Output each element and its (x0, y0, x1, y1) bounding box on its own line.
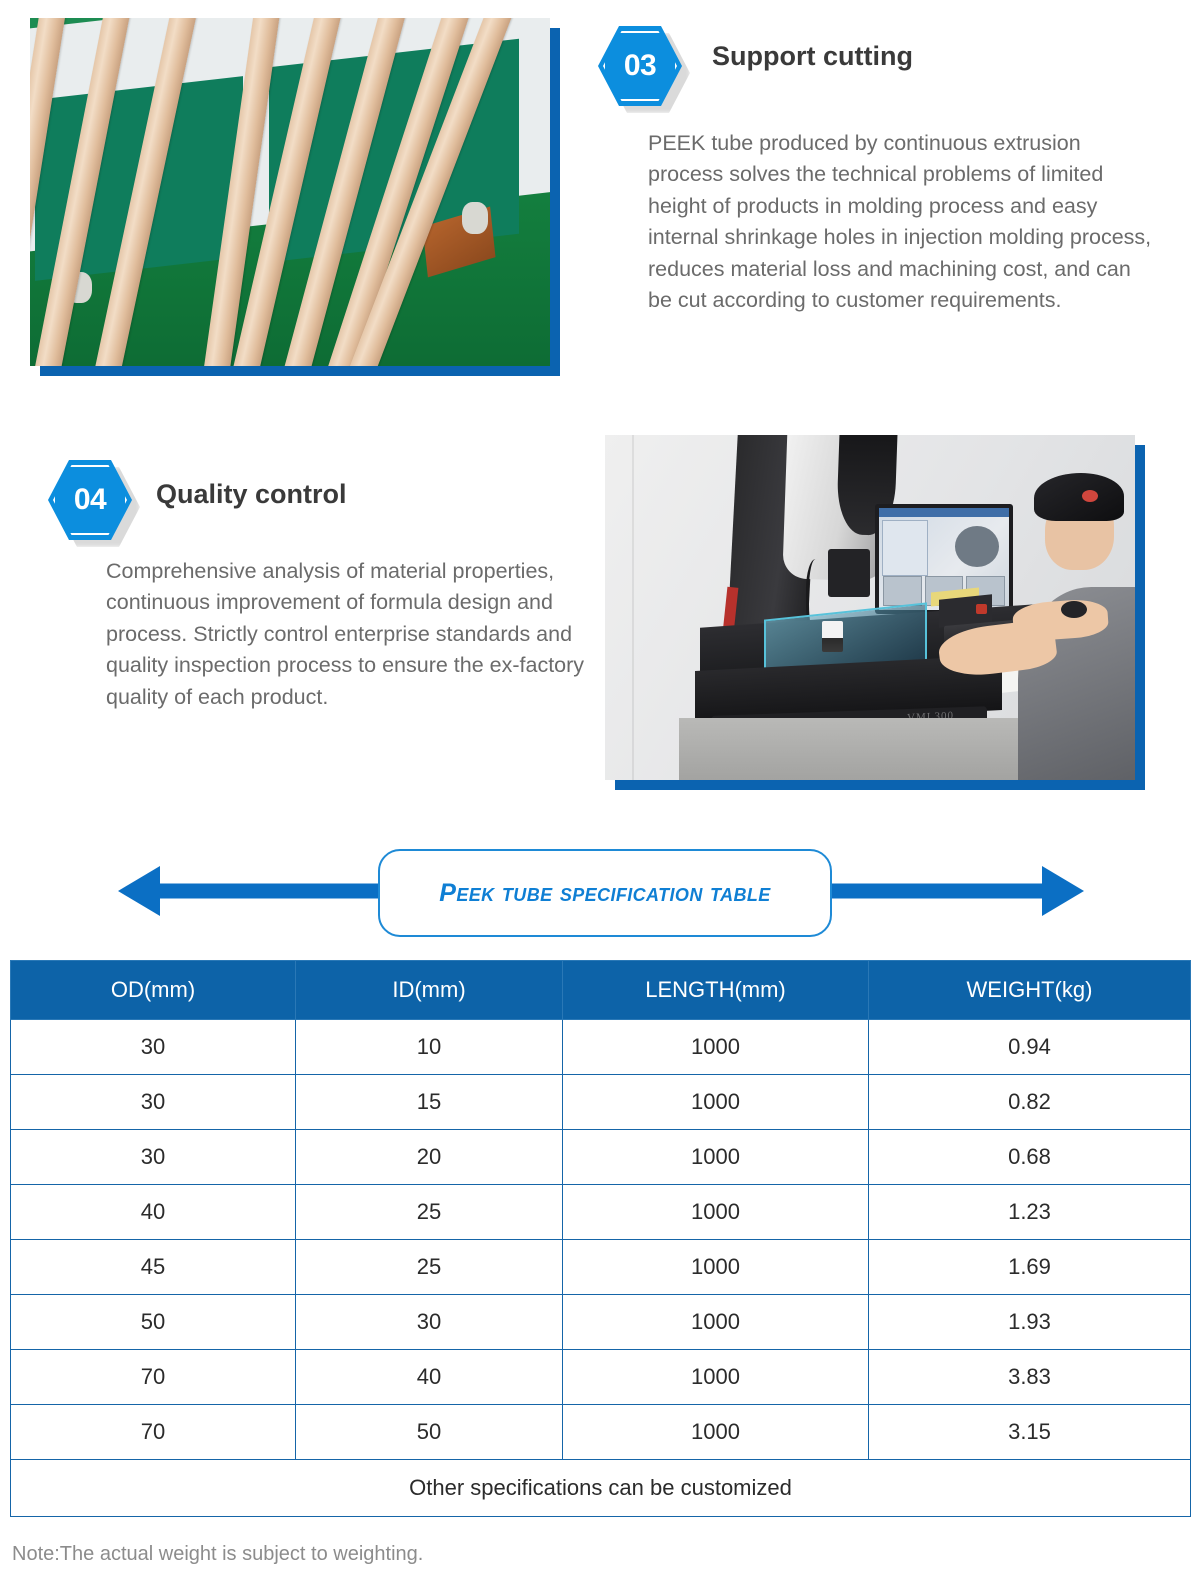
table-row: 301010000.94 (11, 1020, 1191, 1075)
table-cell-length: 1000 (563, 1295, 869, 1350)
peek-sample-part (822, 621, 843, 652)
table-cell-weight: 1.69 (869, 1240, 1191, 1295)
photo-peek-rods-image (30, 18, 550, 366)
table-header-row: OD(mm) ID(mm) LENGTH(mm) WEIGHT(kg) (11, 961, 1191, 1020)
column-header-weight: WEIGHT(kg) (869, 961, 1191, 1020)
table-cell-weight: 0.94 (869, 1020, 1191, 1075)
table-cell-od: 45 (11, 1240, 296, 1295)
column-header-length: LENGTH(mm) (563, 961, 869, 1020)
table-row: 704010003.83 (11, 1350, 1191, 1405)
emergency-stop-button (976, 604, 987, 614)
wall-corner (632, 435, 634, 780)
table-cell-weight: 0.68 (869, 1130, 1191, 1185)
footer-note-cell: Other specifications can be customized (11, 1460, 1191, 1517)
table-row: 301510000.82 (11, 1075, 1191, 1130)
section-body-04: Comprehensive analysis of material prope… (106, 556, 596, 713)
table-foot-right (462, 202, 488, 233)
step-number-badge-04: 04 (48, 460, 132, 540)
photo-quality-inspection: VML300 (605, 435, 1135, 780)
workshop-scene (30, 18, 550, 366)
table-cell-length: 1000 (563, 1405, 869, 1460)
table-cell-weight: 1.23 (869, 1185, 1191, 1240)
computer-mouse (1061, 601, 1088, 618)
software-tile (883, 576, 921, 607)
column-header-id: ID(mm) (296, 961, 563, 1020)
step-number-04: 04 (48, 460, 132, 540)
table-cell-length: 1000 (563, 1075, 869, 1130)
table-cell-id: 50 (296, 1405, 563, 1460)
table-cell-id: 15 (296, 1075, 563, 1130)
table-row: 302010000.68 (11, 1130, 1191, 1185)
table-cell-od: 70 (11, 1405, 296, 1460)
spec-table-banner: Peek tube specification table (0, 845, 1200, 937)
spec-title-box: Peek tube specification table (378, 849, 832, 937)
table-cell-od: 50 (11, 1295, 296, 1350)
table-cell-od: 70 (11, 1350, 296, 1405)
table-cell-id: 25 (296, 1185, 563, 1240)
section-title-04: Quality control (156, 479, 347, 510)
table-row: 705010003.15 (11, 1405, 1191, 1460)
table-cell-od: 30 (11, 1020, 296, 1075)
table-cell-id: 30 (296, 1295, 563, 1350)
table-row: 452510001.69 (11, 1240, 1191, 1295)
software-titlebar (879, 508, 1009, 517)
table-cell-weight: 0.82 (869, 1075, 1191, 1130)
table-body: 301010000.94301510000.82302010000.684025… (11, 1020, 1191, 1460)
photo-peek-rods (30, 18, 550, 366)
table-cell-length: 1000 (563, 1185, 869, 1240)
table-cell-weight: 1.93 (869, 1295, 1191, 1350)
table-cell-id: 40 (296, 1350, 563, 1405)
step-number-badge-03: 03 (598, 26, 682, 106)
table-row: 402510001.23 (11, 1185, 1191, 1240)
section-body-03: PEEK tube produced by continuous extrusi… (648, 128, 1160, 316)
table-cell-od: 40 (11, 1185, 296, 1240)
table-cell-id: 20 (296, 1130, 563, 1185)
table-footer-row: Other specifications can be customized (11, 1460, 1191, 1517)
table-cell-length: 1000 (563, 1350, 869, 1405)
software-panel (882, 520, 928, 575)
table-note: Note:The actual weight is subject to wei… (12, 1543, 423, 1566)
arrow-right-icon (1042, 866, 1084, 916)
table-cell-od: 30 (11, 1075, 296, 1130)
table-cell-weight: 3.83 (869, 1350, 1191, 1405)
column-header-od: OD(mm) (11, 961, 296, 1020)
operator-cap (1034, 473, 1124, 521)
section-title-03: Support cutting (712, 41, 913, 72)
table-cell-od: 30 (11, 1130, 296, 1185)
specification-table: OD(mm) ID(mm) LENGTH(mm) WEIGHT(kg) 3010… (10, 960, 1191, 1517)
measuring-machine-optics (828, 549, 870, 597)
table-cell-weight: 3.15 (869, 1405, 1191, 1460)
photo-quality-inspection-image: VML300 (605, 435, 1135, 780)
measured-part-preview (955, 526, 999, 567)
table-cell-length: 1000 (563, 1020, 869, 1075)
table-cell-id: 10 (296, 1020, 563, 1075)
table-row: 503010001.93 (11, 1295, 1191, 1350)
table-cell-length: 1000 (563, 1240, 869, 1295)
spec-title-text: Peek tube specification table (439, 879, 770, 908)
table-cell-length: 1000 (563, 1130, 869, 1185)
step-number-03: 03 (598, 26, 682, 106)
table-cell-id: 25 (296, 1240, 563, 1295)
